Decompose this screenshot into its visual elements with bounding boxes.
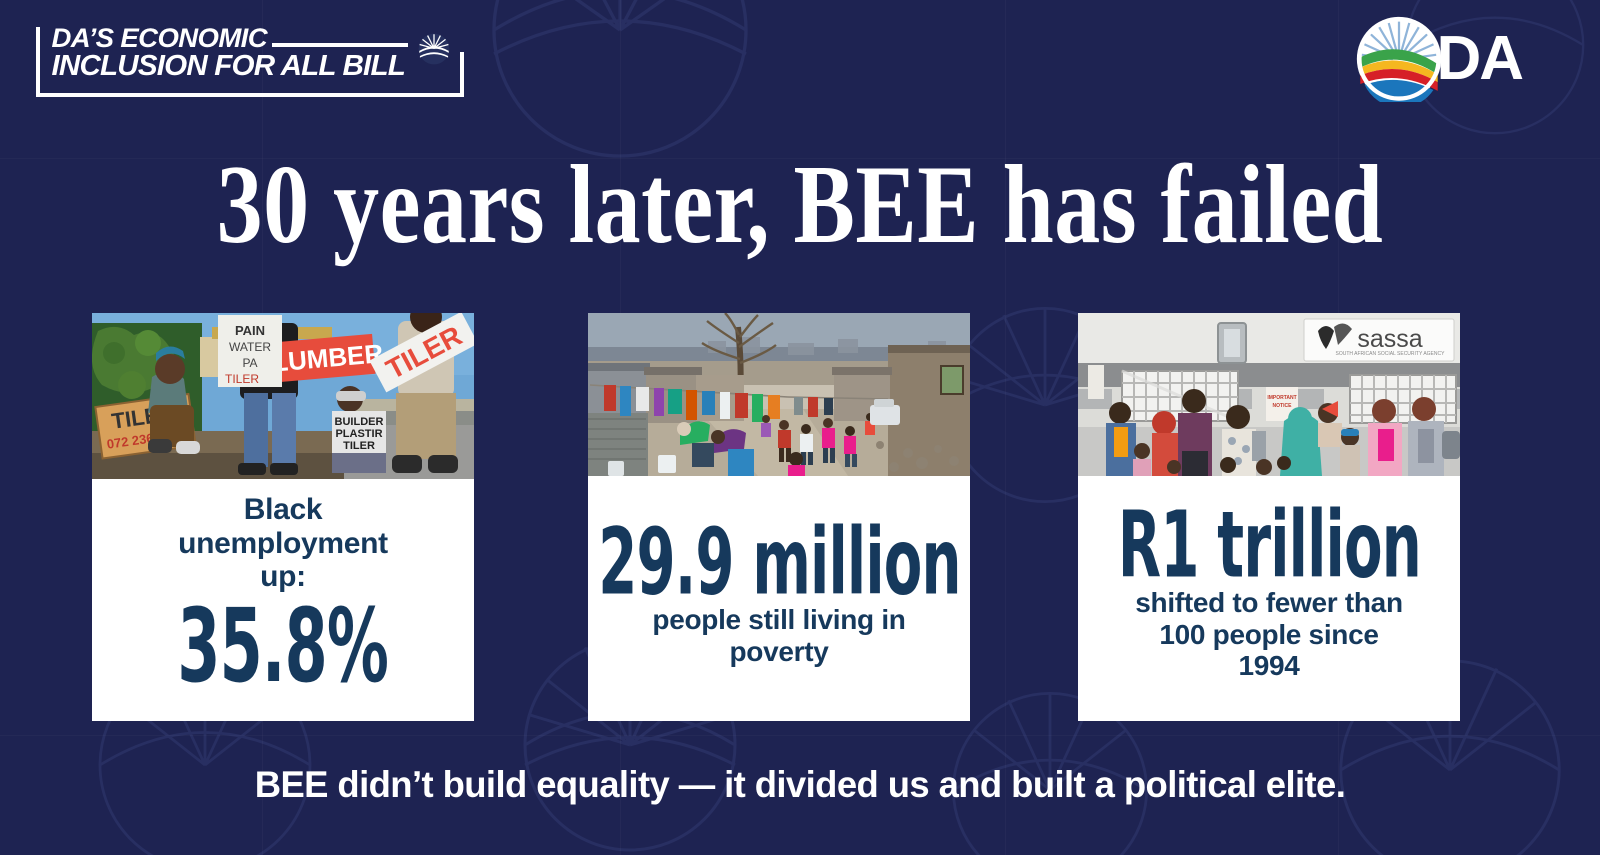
frame-right-edge — [460, 52, 464, 97]
svg-text:TILER: TILER — [343, 440, 375, 452]
stat-value: 35.8% — [178, 596, 389, 697]
svg-text:PA: PA — [242, 356, 257, 370]
frame-left-edge — [36, 27, 40, 97]
photo-sassa-queue: sassa SOUTH AFRICAN SOCIAL SECURITY AGEN… — [1078, 313, 1460, 476]
da-wordmark: DA — [1436, 28, 1522, 90]
da-sun-logo-icon — [1356, 16, 1442, 102]
stat-card-people-in-poverty: 29.9 million people still living inpover… — [588, 313, 970, 721]
card-body: 29.9 million people still living inpover… — [588, 476, 970, 721]
bill-title-line2: INCLUSION FOR ALL BILL — [52, 52, 405, 81]
svg-text:PLASTIR: PLASTIR — [335, 428, 382, 440]
footer-caption: BEE didn’t build equality — it divided u… — [12, 766, 1588, 805]
photo-job-seekers: TILER 072 236 2004 PLUMBER — [92, 313, 474, 479]
mini-sun-icon — [418, 33, 450, 65]
photo-informal-settlement — [588, 313, 970, 476]
stat-label: Blackunemploymentup: — [178, 493, 388, 594]
card-body: Blackunemploymentup: 35.8% — [92, 479, 474, 721]
header-bar: DA’S ECONOMIC INCLUSION FOR ALL BILL DA — [0, 0, 1600, 120]
stat-value: 29.9 million — [598, 517, 960, 609]
svg-text:PAIN: PAIN — [235, 323, 265, 338]
svg-text:sassa: sassa — [1357, 325, 1422, 353]
svg-text:TILER: TILER — [225, 372, 259, 386]
da-brand-logo: DA — [1356, 16, 1522, 102]
page-title: 30 years later, BEE has failed — [0, 148, 1600, 260]
bill-title-line1: DA’S ECONOMIC — [52, 25, 405, 52]
svg-text:WATER: WATER — [229, 340, 271, 354]
stat-description: shifted to fewer than100 people since199… — [1135, 587, 1403, 683]
stat-card-wealth-shifted: sassa SOUTH AFRICAN SOCIAL SECURITY AGEN… — [1078, 313, 1460, 721]
stat-card-row: TILER 072 236 2004 PLUMBER — [0, 313, 1600, 721]
stat-value: R1 trillion — [1117, 500, 1420, 592]
svg-text:SOUTH AFRICAN SOCIAL SECURITY: SOUTH AFRICAN SOCIAL SECURITY AGENCY — [1336, 351, 1446, 357]
svg-text:NOTICE: NOTICE — [1273, 403, 1293, 409]
stat-card-black-unemployment: TILER 072 236 2004 PLUMBER — [92, 313, 474, 721]
frame-bottom-edge — [36, 93, 464, 97]
bill-title-frame: DA’S ECONOMIC INCLUSION FOR ALL BILL — [36, 27, 464, 97]
bill-title: DA’S ECONOMIC INCLUSION FOR ALL BILL — [52, 25, 405, 80]
card-body: R1 trillion shifted to fewer than100 peo… — [1078, 476, 1460, 721]
svg-text:BUILDER: BUILDER — [335, 416, 384, 428]
svg-text:IMPORTANT: IMPORTANT — [1267, 395, 1296, 401]
